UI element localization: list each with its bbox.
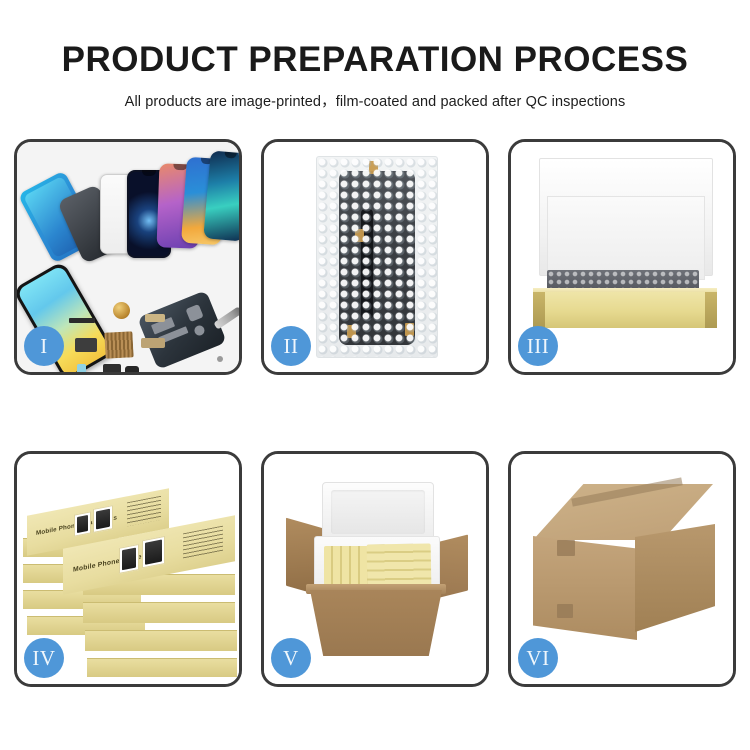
process-step-panel-1[interactable]: I	[14, 139, 242, 375]
step-badge-5: V	[271, 638, 311, 678]
step-badge-2: II	[271, 326, 311, 366]
vibration-motor-part	[113, 302, 130, 319]
kraft-box-stack: Mobile Phone Spare Parts Mobile Phone Sp…	[23, 476, 235, 666]
page-subtitle: All products are image-printed，film-coat…	[0, 79, 750, 111]
process-step-panel-5[interactable]: V	[261, 451, 489, 687]
stacked-box-right-4	[87, 658, 237, 676]
process-step-grid: I II III	[14, 139, 736, 687]
foam-box-lid	[322, 482, 434, 542]
box-lid-inner-panel	[547, 196, 705, 280]
step-badge-1: I	[24, 326, 64, 366]
yellow-boxes-row-right	[367, 543, 432, 588]
step-badge-3: III	[518, 326, 558, 366]
small-bracket-part	[145, 314, 165, 322]
box-label-window-1b	[93, 505, 113, 533]
carton-left-face	[533, 536, 637, 640]
camera-module-part	[141, 338, 165, 348]
box-label-window-1a	[74, 511, 91, 536]
speaker-part	[103, 364, 121, 372]
step-badge-6: VI	[518, 638, 558, 678]
stacked-box-right-2	[83, 602, 235, 622]
box-label-window-2a	[119, 544, 139, 574]
box-flap-right	[705, 292, 717, 328]
process-step-panel-6[interactable]: VI	[508, 451, 736, 687]
battery-connector-part	[125, 366, 139, 372]
bubble-wrap-bag	[316, 156, 438, 358]
carton-tape-upper	[557, 540, 575, 556]
page-header: PRODUCT PREPARATION PROCESS All products…	[0, 0, 750, 111]
connector-grid-part	[104, 331, 133, 358]
page-title: PRODUCT PREPARATION PROCESS	[0, 0, 750, 79]
bubble-texture	[317, 157, 437, 357]
process-step-panel-2[interactable]: II	[261, 139, 489, 375]
box-label-window-2b	[142, 536, 165, 568]
step-badge-4: IV	[24, 638, 64, 678]
box-flap-left	[533, 292, 545, 328]
sim-tray-part	[77, 364, 86, 372]
process-step-panel-3[interactable]: III	[508, 139, 736, 375]
carton-tape-lower	[557, 604, 573, 618]
antenna-flex-part	[75, 338, 97, 352]
carton-front-face	[310, 590, 442, 656]
screw-part	[217, 356, 223, 362]
stacked-box-right-3	[85, 630, 237, 650]
box-body-kraft	[533, 292, 717, 328]
process-step-panel-4[interactable]: Mobile Phone Spare Parts Mobile Phone Sp…	[14, 451, 242, 687]
flex-cable-part	[69, 318, 95, 323]
